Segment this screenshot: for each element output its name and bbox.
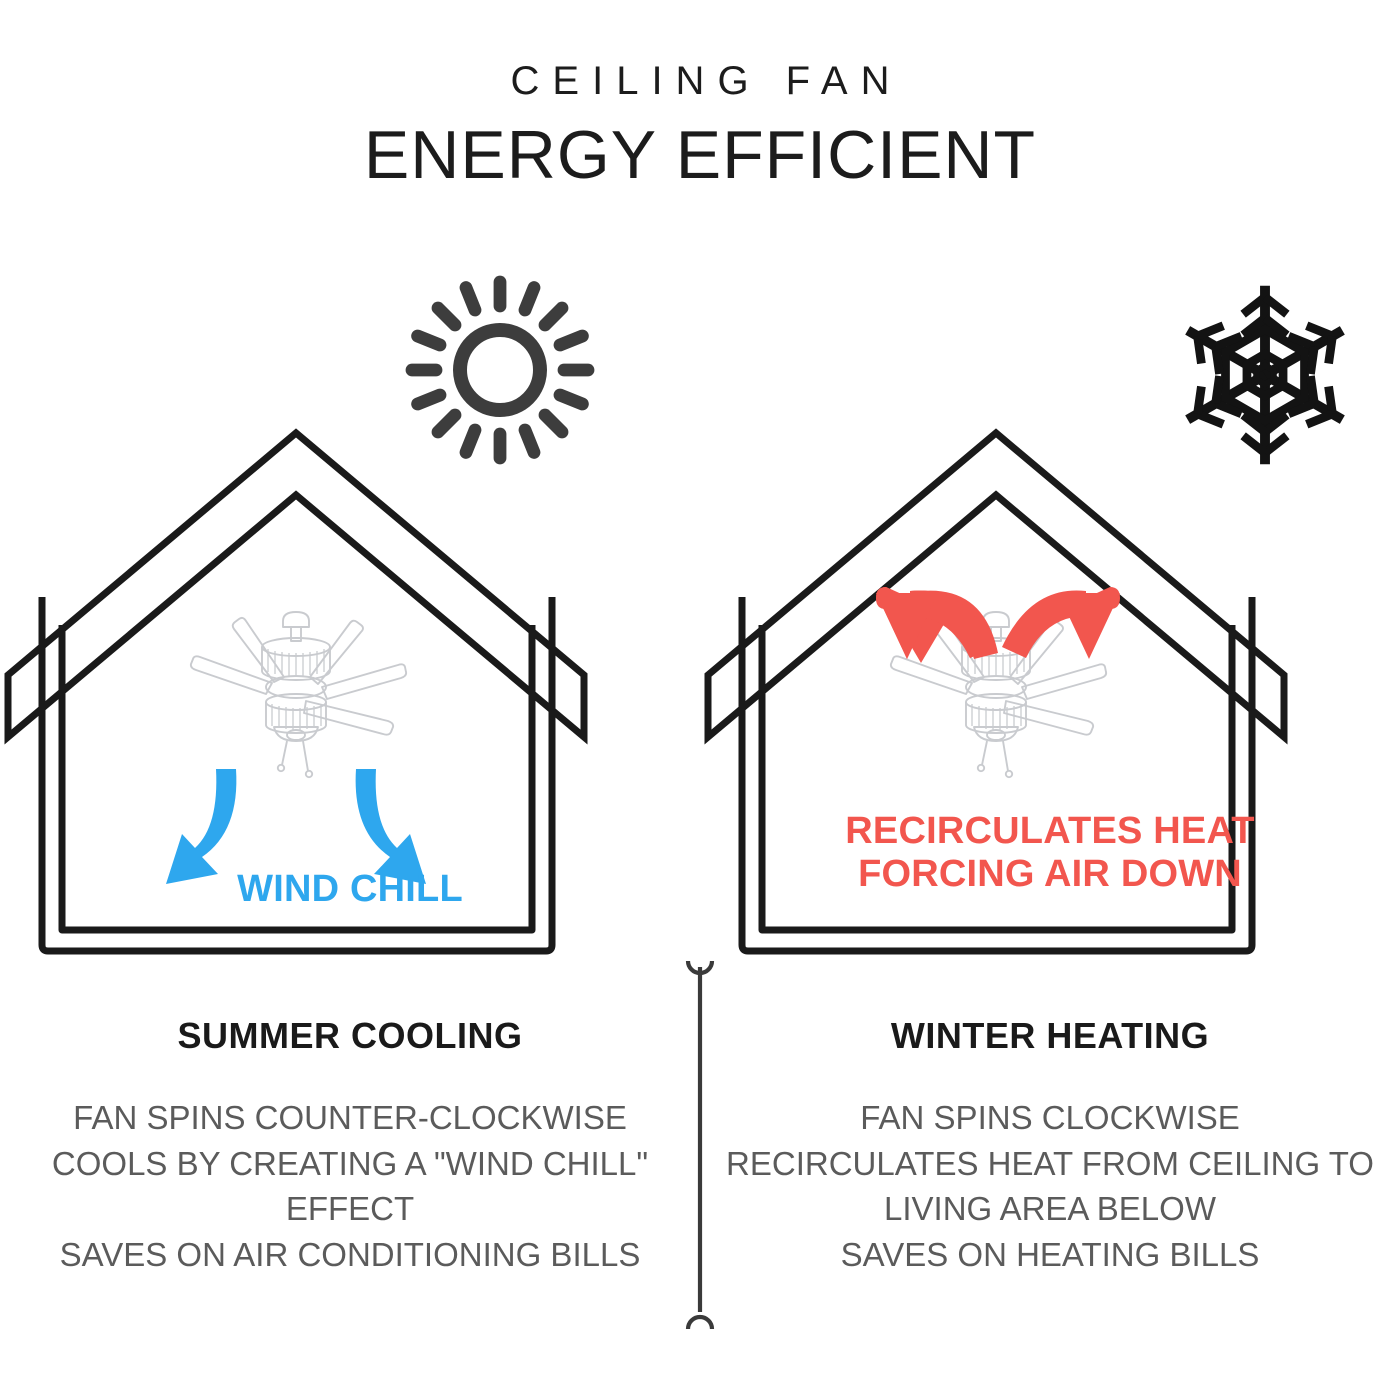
body-line: SAVES ON HEATING BILLS <box>720 1232 1380 1278</box>
panel-body-winter: FAN SPINS CLOCKWISE RECIRCULATES HEAT FR… <box>720 1095 1380 1277</box>
panel-title-winter: WINTER HEATING <box>700 1015 1400 1057</box>
in-house-label-line-2: FORCING AIR DOWN <box>700 853 1400 896</box>
body-line: LIVING AREA BELOW <box>720 1186 1380 1232</box>
heatflow-arrow-right <box>1002 587 1120 659</box>
panel-title-summer: SUMMER COOLING <box>0 1015 700 1057</box>
page-title: ENERGY EFFICIENT <box>0 120 1400 191</box>
roof-outline <box>708 433 1284 737</box>
airflow-arrow-right <box>356 769 426 884</box>
page-eyebrow: CEILING FAN <box>0 60 1400 102</box>
airflow-arrow-left <box>166 769 236 884</box>
divider-cap-bottom <box>688 1317 712 1329</box>
body-line: FAN SPINS COUNTER-CLOCKWISE <box>0 1095 700 1141</box>
in-house-label-wind-chill: WIND CHILL <box>0 868 700 911</box>
roof-outline <box>8 433 584 737</box>
body-line: SAVES ON AIR CONDITIONING BILLS <box>0 1232 700 1278</box>
body-line: FAN SPINS CLOCKWISE <box>720 1095 1380 1141</box>
panel-winter-heating: RECIRCULATES HEAT FORCING AIR DOWN WINTE… <box>700 270 1400 1400</box>
page-header: CEILING FAN ENERGY EFFICIENT <box>0 0 1400 191</box>
vertical-divider <box>674 955 726 1335</box>
in-house-label-recirculates-heat: RECIRCULATES HEAT FORCING AIR DOWN <box>700 810 1400 895</box>
ceiling-fan-icon <box>191 612 406 777</box>
panel-summer-cooling: WIND CHILL SUMMER COOLING FAN SPINS COUN… <box>0 270 700 1400</box>
body-line: EFFECT <box>0 1186 700 1232</box>
body-line: COOLS BY CREATING A "WIND CHILL" <box>0 1141 700 1187</box>
in-house-label-line-1: RECIRCULATES HEAT <box>700 810 1400 853</box>
panel-body-summer: FAN SPINS COUNTER-CLOCKWISE COOLS BY CRE… <box>0 1095 700 1277</box>
body-line: RECIRCULATES HEAT FROM CEILING TO <box>720 1141 1380 1187</box>
